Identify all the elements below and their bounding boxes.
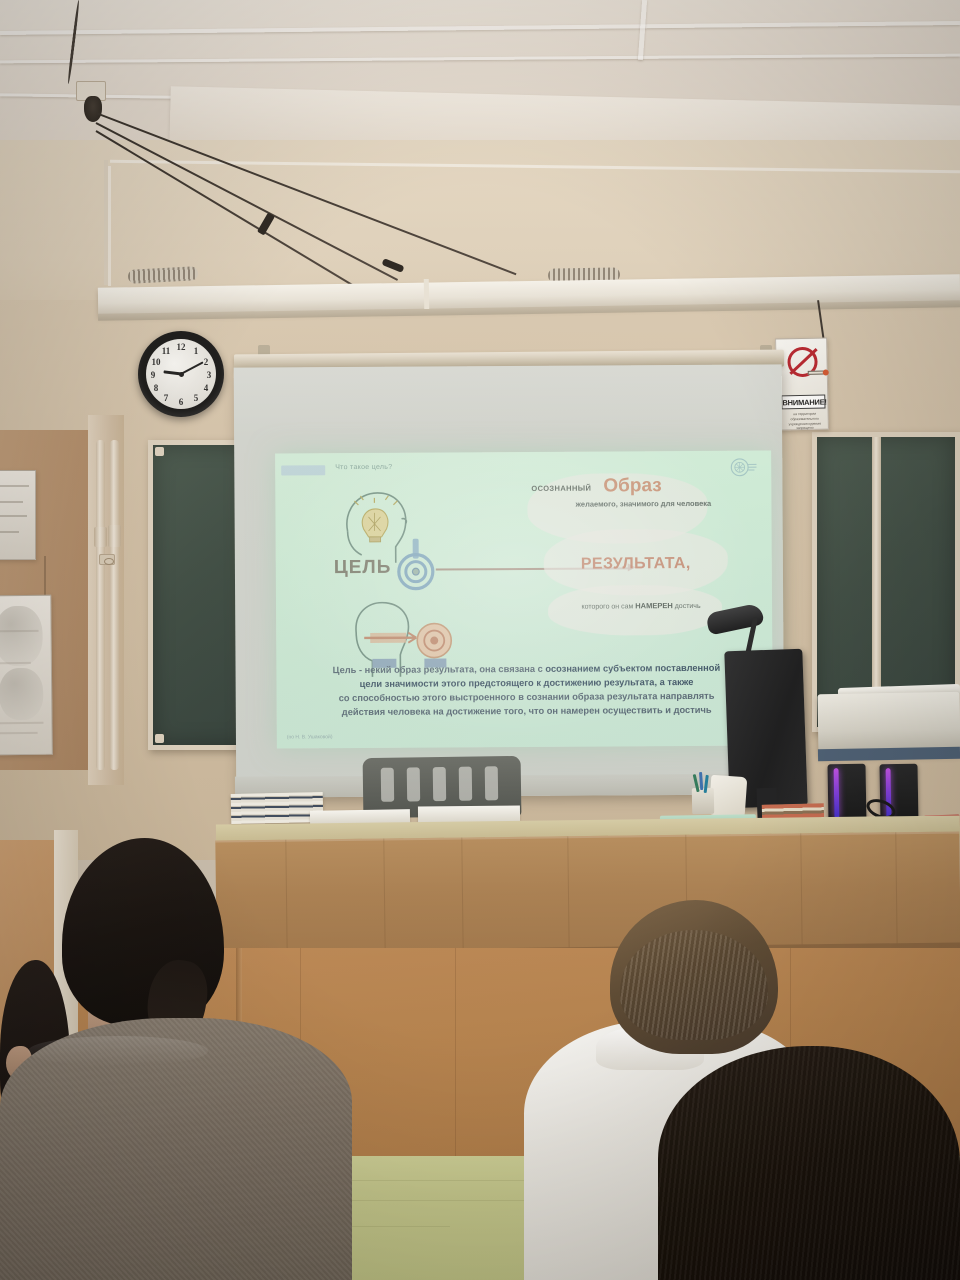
chalkboard-divider — [872, 437, 881, 729]
clock-face: 12 1 2 3 4 5 6 7 8 9 10 11 — [146, 339, 216, 409]
namerenie-prefix: которого он сам — [581, 603, 635, 610]
clock-numeral: 11 — [159, 346, 173, 356]
cigarette-ember-icon — [823, 369, 829, 375]
classroom-photo: 12 1 2 3 4 5 6 7 8 9 10 11 — [0, 0, 960, 1280]
wall-rail-vertical — [108, 166, 111, 286]
slide-body-text: Цель - некий образ результата, она связа… — [280, 660, 772, 720]
clock-numeral: 9 — [146, 370, 160, 380]
wall-clock: 12 1 2 3 4 5 6 7 8 9 10 11 — [138, 331, 224, 417]
teacher-desk-front — [215, 831, 960, 958]
student-hair-strands — [620, 930, 768, 1040]
ceiling-seam — [638, 0, 647, 60]
wall-pipe — [110, 440, 119, 770]
student-shoulder-highlight — [28, 1036, 208, 1066]
slide-body-line1a: Цель - некий образ результата, она связа… — [333, 664, 546, 675]
student-hair — [658, 1046, 960, 1280]
beam-support — [104, 160, 108, 285]
callout-osoznanny: ОСОЗНАННЫЙ — [531, 484, 591, 493]
clock-numeral: 4 — [199, 383, 213, 393]
beam-seam — [424, 279, 429, 309]
printer-base — [818, 747, 960, 761]
callout-obraz-subtitle: желаемого, значимого для человека — [563, 499, 723, 510]
slide-source-citation: (по Н. В. Ушаковой) — [287, 734, 333, 740]
callout-obraz: Образ — [603, 475, 662, 497]
white-bag — [709, 775, 748, 817]
clock-center-pin — [179, 372, 184, 377]
pipe-coupler — [94, 527, 107, 547]
projected-slide: Что такое цель? ЦЕЛЬ — [275, 450, 773, 748]
slide-tag-block — [281, 465, 325, 475]
pencil-cup — [692, 788, 714, 814]
slide-body-line1b: осознанием субъектом поставленной — [545, 663, 720, 674]
sign-subtitle: на территории образовательного учреждени… — [784, 412, 826, 432]
ceiling-seam — [0, 21, 960, 35]
slide-body-line-4: действия человека на достижение того, чт… — [281, 703, 773, 720]
pipe-coupler — [108, 525, 121, 547]
callout-namerenie: которого он сам НАМЕРЕН достичь — [561, 601, 721, 611]
sign-title: ВНИМАНИЕ! — [781, 395, 825, 410]
clock-numeral: 8 — [149, 383, 163, 393]
desk-speaker-left[interactable] — [827, 764, 866, 825]
wall-poster-small — [0, 470, 36, 560]
clock-numeral: 1 — [189, 346, 203, 356]
clock-numeral: 3 — [202, 370, 216, 380]
poster-pin — [44, 556, 46, 598]
slide-kicker: Что такое цель? — [335, 464, 392, 471]
callout-rezultata: РЕЗУЛЬТАТА, — [581, 555, 691, 574]
clock-minute-hand — [181, 361, 204, 375]
clock-numeral: 7 — [159, 393, 173, 403]
namerenie-suffix: достичь — [673, 603, 701, 610]
cable-knot — [84, 96, 102, 122]
target-bullseye-icon — [394, 539, 438, 593]
wall-pipe — [96, 440, 105, 770]
namerenie-bold: НАМЕРЕН — [635, 601, 673, 610]
slide-target-label: ЦЕЛЬ — [334, 557, 392, 579]
clock-numeral: 5 — [189, 393, 203, 403]
wall-poster-large — [0, 595, 53, 756]
wall-outlet[interactable] — [99, 554, 115, 565]
circular-emblem-logo — [729, 457, 757, 481]
ceiling-seam — [0, 54, 960, 64]
clock-numeral: 12 — [174, 342, 188, 352]
clock-numeral: 6 — [174, 397, 188, 407]
speaker-led-strip — [834, 768, 840, 818]
clock-numeral: 10 — [149, 357, 163, 367]
